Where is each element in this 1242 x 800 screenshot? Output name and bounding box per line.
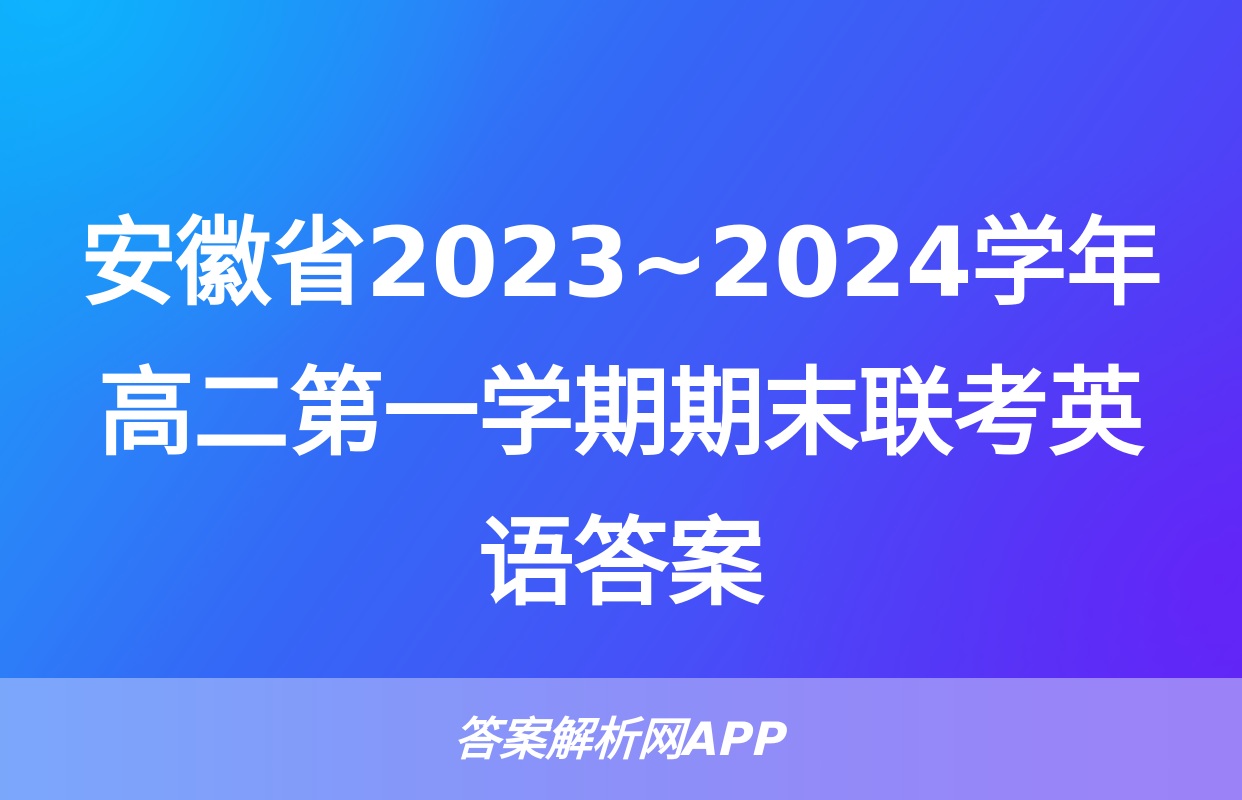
page-title: 安徽省2023~2024学年 高二第一学期期末联考英 语答案 bbox=[0, 188, 1242, 638]
watermark-brand-label: 答案解析网APP bbox=[453, 716, 788, 762]
poster-canvas: 安徽省2023~2024学年 高二第一学期期末联考英 语答案 答案解析网APP bbox=[0, 0, 1242, 800]
title-line-3: 语答案 bbox=[46, 488, 1196, 638]
watermark-band: 答案解析网APP bbox=[0, 678, 1242, 800]
title-line-1: 安徽省2023~2024学年 bbox=[46, 188, 1196, 338]
title-line-2: 高二第一学期期末联考英 bbox=[46, 338, 1196, 488]
